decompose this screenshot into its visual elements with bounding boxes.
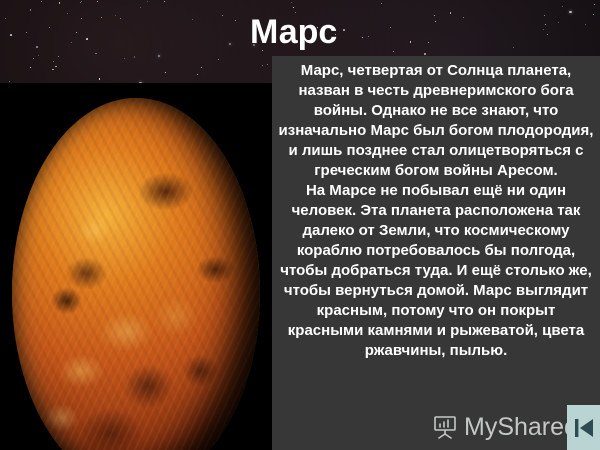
slide-title: Марс	[250, 12, 337, 52]
previous-slide-icon	[573, 416, 595, 440]
body-paragraph-1: Марс, четвертая от Солнца планета, назва…	[272, 56, 600, 181]
previous-slide-button[interactable]	[567, 405, 600, 450]
presentation-slide: Марс Марс, четвертая от Солнца планета, …	[0, 0, 600, 450]
body-paragraph-2: На Марсе не побывал ещё ни один человек.…	[272, 181, 600, 361]
planet-mars-image	[12, 98, 260, 450]
text-content-panel: Марс, четвертая от Солнца планета, назва…	[272, 56, 600, 450]
